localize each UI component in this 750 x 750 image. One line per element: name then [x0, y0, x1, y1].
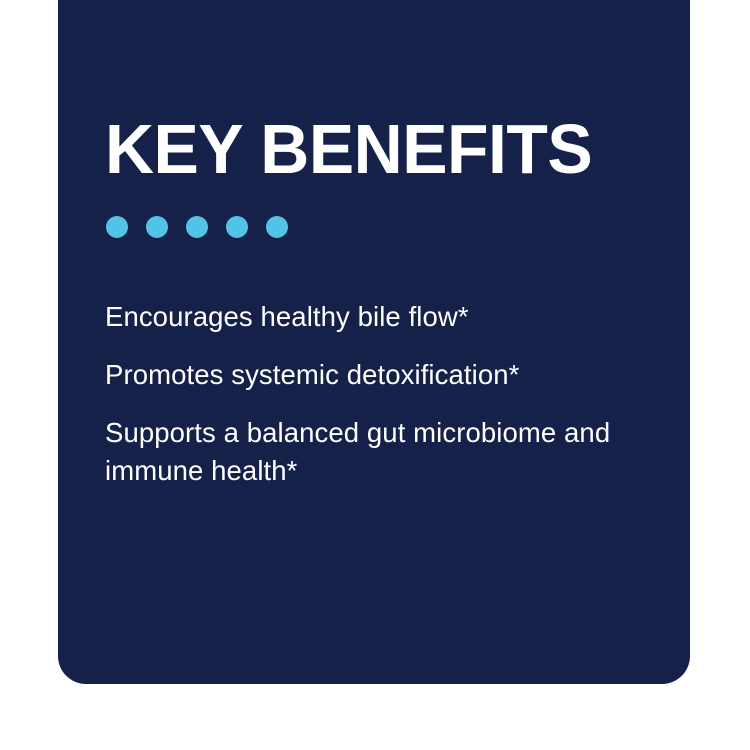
divider-dot-1 — [106, 216, 128, 238]
list-item: Promotes systemic detoxification* — [105, 356, 615, 394]
dot-divider — [106, 216, 288, 238]
list-item: Supports a balanced gut microbiome and i… — [105, 414, 615, 490]
divider-dot-2 — [146, 216, 168, 238]
list-item: Encourages healthy bile flow* — [105, 298, 615, 336]
page-title: KEY BENEFITS — [105, 112, 592, 186]
key-benefits-card: KEY BENEFITS Encourages healthy bile flo… — [58, 0, 690, 684]
divider-dot-5 — [266, 216, 288, 238]
divider-dot-3 — [186, 216, 208, 238]
divider-dot-4 — [226, 216, 248, 238]
benefits-list: Encourages healthy bile flow* Promotes s… — [105, 298, 665, 490]
card-content-area: KEY BENEFITS Encourages healthy bile flo… — [105, 0, 690, 684]
